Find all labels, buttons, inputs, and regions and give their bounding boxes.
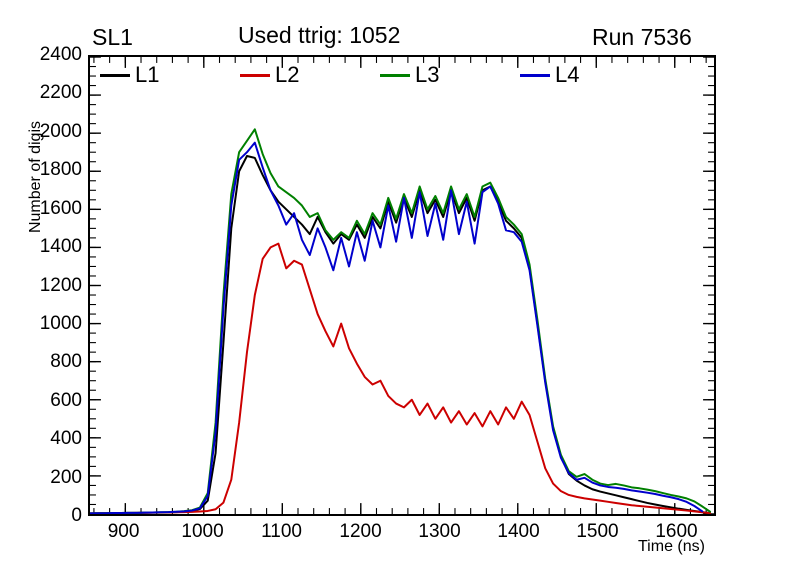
x-tick-label: 1500 xyxy=(558,521,638,543)
legend-label: L2 xyxy=(275,64,299,86)
x-tick-label: 1200 xyxy=(321,521,401,543)
chart-lines xyxy=(90,57,714,514)
legend: L1L2L3L4 xyxy=(100,60,580,90)
legend-item-l4[interactable]: L4 xyxy=(520,60,579,90)
legend-line-icon xyxy=(520,74,550,77)
y-tick-label: 1000 xyxy=(22,313,82,335)
y-tick-label: 1200 xyxy=(22,275,82,297)
ttrig-label: Used ttrig: 1052 xyxy=(238,22,400,49)
y-tick-label: 1600 xyxy=(22,198,82,220)
legend-label: L1 xyxy=(135,64,159,86)
x-tick-label: 1300 xyxy=(400,521,480,543)
root-canvas: SL1 Used ttrig: 1052 Run 7536 Number of … xyxy=(0,0,796,572)
y-tick-label: 200 xyxy=(22,467,82,489)
run-number-label: Run 7536 xyxy=(592,24,692,51)
y-tick-label: 1400 xyxy=(22,236,82,258)
y-tick-label: 2000 xyxy=(22,121,82,143)
legend-line-icon xyxy=(100,74,130,77)
x-tick-label: 1400 xyxy=(479,521,559,543)
y-tick-label: 1800 xyxy=(22,159,82,181)
x-tick-label: 900 xyxy=(84,521,164,543)
legend-label: L4 xyxy=(555,64,579,86)
x-tick-label: 1000 xyxy=(163,521,243,543)
y-tick-label: 600 xyxy=(22,390,82,412)
legend-item-l2[interactable]: L2 xyxy=(240,60,299,90)
superlayer-label: SL1 xyxy=(92,24,133,51)
legend-item-l3[interactable]: L3 xyxy=(380,60,439,90)
x-tick-label: 1100 xyxy=(242,521,322,543)
legend-line-icon xyxy=(380,74,410,77)
y-tick-label: 0 xyxy=(22,505,82,527)
legend-label: L3 xyxy=(415,64,439,86)
y-tick-label: 400 xyxy=(22,428,82,450)
legend-item-l1[interactable]: L1 xyxy=(100,60,159,90)
y-tick-label: 2200 xyxy=(22,82,82,104)
plot-frame xyxy=(88,55,716,516)
y-tick-label: 800 xyxy=(22,351,82,373)
x-tick-label: 1600 xyxy=(637,521,717,543)
y-tick-label: 2400 xyxy=(22,44,82,66)
legend-line-icon xyxy=(240,74,270,77)
